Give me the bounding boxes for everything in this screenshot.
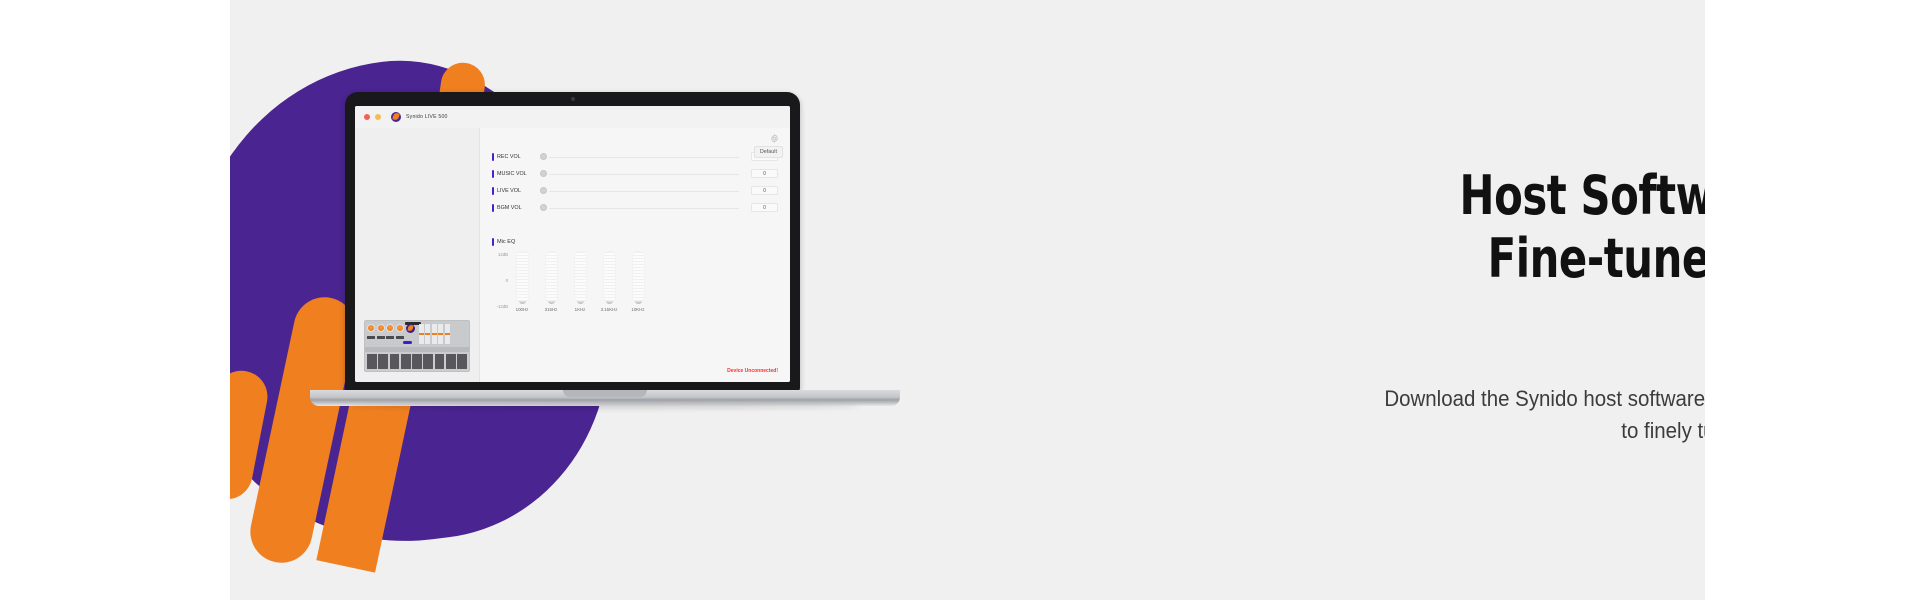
page-title: Host Software for Fine-tune Sound Effect… [1337,165,1705,353]
rec-vol-slider[interactable] [540,151,745,163]
eq-band-track[interactable] [633,252,644,301]
live-vol-slider[interactable] [540,185,745,197]
mic-eq-controls: 12dB 0 -12dB 100Hz [492,252,778,312]
eq-band-track[interactable] [517,252,528,301]
slider-track [549,191,739,193]
volume-row-music: MUSIC VOL 0 [492,165,778,182]
slider-track [549,174,739,176]
app-titlebar: Synido LIVE 500 [355,106,790,128]
mixer-pad [435,354,445,369]
mixer-knob [377,324,385,339]
slider-knob[interactable] [540,204,547,211]
laptop-lid: Synido LIVE 500 [345,92,800,392]
mixer-pad [457,354,467,369]
music-vol-slider[interactable] [540,168,745,180]
headline-line-1: Host Software for [1337,165,1705,228]
eq-band-label: 100Hz [516,307,529,312]
accent-bar-icon [492,238,494,246]
eq-band-track[interactable] [546,252,557,301]
slider-track [549,157,739,159]
headline-line-2: Fine-tune Sound Effects [1337,228,1705,353]
accent-bar-icon [492,170,494,178]
mixer-fader [425,324,430,344]
mic-eq-heading: Mic EQ [492,238,778,246]
volume-row-bgm: BGM VOL 0 [492,199,778,216]
gear-icon[interactable] [770,134,779,143]
slider-knob[interactable] [540,153,547,160]
mixer-pad [378,354,388,369]
promo-banner: Synido LIVE 500 [0,0,1920,600]
close-window-button[interactable] [364,114,370,120]
laptop-mockup: Synido LIVE 500 [310,92,900,422]
volume-controls-list: REC VOL 0 [492,148,778,216]
slider-knob[interactable] [540,187,547,194]
mic-eq-label: Mic EQ [497,239,515,245]
eq-band-315hz: 315Hz [541,252,561,312]
laptop-shadow [350,404,860,409]
mixer-brand-logo-icon [406,324,415,333]
mixer-fader [445,324,450,344]
eq-band-list: 100Hz 315Hz [509,252,778,312]
device-panel [355,128,480,382]
subcopy-line-2: to finely tune sound effects. [1293,415,1705,447]
mixer-fader [419,324,424,344]
bgm-vol-slider[interactable] [540,202,745,214]
eq-band-label: 10KHz [631,307,644,312]
volume-label: LIVE VOL [497,188,521,194]
eq-band-label: 315Hz [545,307,558,312]
volume-row-rec: REC VOL 0 [492,148,778,165]
mixer-pad [412,354,422,369]
eq-scale-top: 12dB [498,252,508,257]
accent-bar-icon [492,153,494,161]
minimize-window-button[interactable] [375,114,381,120]
mixer-knob [396,324,404,339]
synido-logo-icon [391,112,401,122]
live-vol-value[interactable]: 0 [751,186,778,195]
mixer-pad [390,354,400,369]
marketing-copy: Host Software for Fine-tune Sound Effect… [1250,165,1705,447]
eq-band-100hz: 100Hz [512,252,532,312]
volume-label: MUSIC VOL [497,171,527,177]
mixer-pad [446,354,456,369]
mixer-pad [367,354,377,369]
device-status-badge: Device Unconnected! [727,368,778,374]
eq-scale-bottom: -12dB [497,304,508,309]
page-subtitle: Download the Synido host software on you… [1293,383,1705,447]
eq-band-label: 1KHz [575,307,586,312]
volume-label: BGM VOL [497,205,522,211]
eq-band-1khz: 1KHz [570,252,590,312]
mixer-pad-row [365,352,469,371]
eq-band-315khz: 3.15KHz [599,252,619,312]
eq-scale-mid: 0 [506,278,508,283]
mixer-knob-row [367,324,404,344]
default-preset-button[interactable]: Default [754,146,783,158]
bgm-vol-value[interactable]: 0 [751,203,778,212]
music-vol-value[interactable]: 0 [751,169,778,178]
mixer-pad [401,354,411,369]
slider-track [549,208,739,210]
mixer-fader [438,324,443,344]
subcopy-line-1: Download the Synido host software on you… [1293,383,1705,415]
mixer-fader-row [419,324,450,344]
volume-label-group: LIVE VOL [492,187,540,195]
volume-label-group: MUSIC VOL [492,170,540,178]
volume-label: REC VOL [497,154,521,160]
accent-bar-icon [492,204,494,212]
eq-band-10khz: 10KHz [628,252,648,312]
controls-panel: Default REC VOL [480,128,790,382]
laptop-screen: Synido LIVE 500 [355,106,790,382]
mixer-blue-indicator [403,341,412,345]
accent-bar-icon [492,187,494,195]
mixer-knob [386,324,394,339]
app-title: Synido LIVE 500 [406,114,448,120]
eq-band-label: 3.15KHz [601,307,618,312]
volume-label-group: REC VOL [492,153,540,161]
banner-stage: Synido LIVE 500 [230,0,1705,600]
slider-knob[interactable] [540,170,547,177]
volume-label-group: BGM VOL [492,204,540,212]
eq-scale-axis: 12dB 0 -12dB [492,252,509,312]
eq-band-track[interactable] [575,252,586,301]
mixer-fader [432,324,437,344]
mixer-device-image [364,320,470,372]
volume-row-live: LIVE VOL 0 [492,182,778,199]
eq-band-track[interactable] [604,252,615,301]
mixer-top-section [365,321,469,347]
mixer-pad [423,354,433,369]
webcam-icon [571,97,575,101]
app-body: Default REC VOL [355,128,790,382]
mixer-knob [367,324,375,339]
